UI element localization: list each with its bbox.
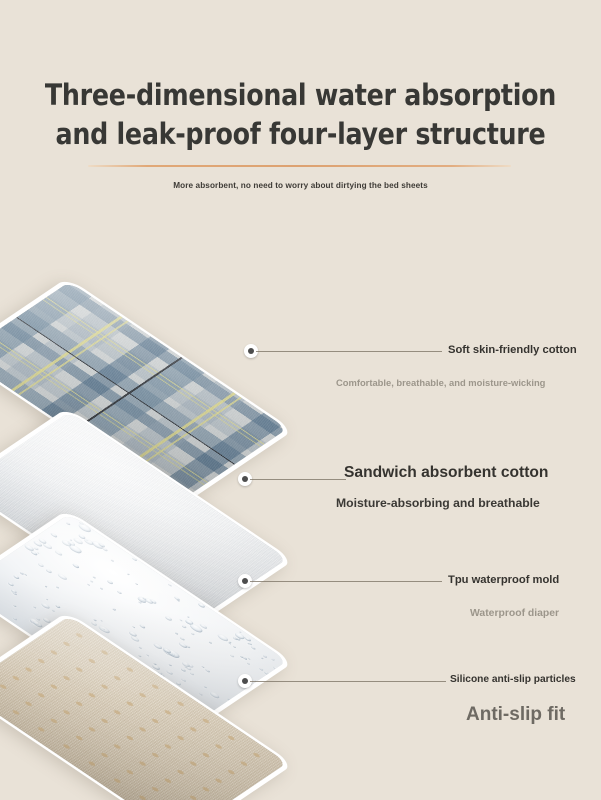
leader-line <box>250 681 446 682</box>
leader-line <box>250 581 442 582</box>
layer-label-plaid-cotton: Soft skin-friendly cotton <box>448 344 577 356</box>
layer-label-anti-slip: Silicone anti-slip particles <box>450 674 576 685</box>
layer-sublabel-plaid-cotton: Comfortable, breathable, and moisture-wi… <box>336 377 545 388</box>
leader-line <box>256 351 442 352</box>
infographic-page: Three-dimensional water absorption and l… <box>0 0 601 800</box>
layer-label-sandwich-cotton: Sandwich absorbent cotton <box>344 464 548 482</box>
layer-sublabel-tpu-waterproof: Waterproof diaper <box>470 608 559 619</box>
layer-label-tpu-waterproof: Tpu waterproof mold <box>448 574 559 586</box>
title-divider <box>88 165 511 167</box>
layer-sublabel-anti-slip: Anti-slip fit <box>466 704 565 726</box>
leader-line <box>250 479 346 480</box>
page-title: Three-dimensional water absorption and l… <box>14 76 588 154</box>
page-subtitle: More absorbent, no need to worry about d… <box>0 181 601 190</box>
layer-stack: Soft skin-friendly cotton Comfortable, b… <box>0 240 601 800</box>
layer-sublabel-sandwich-cotton: Moisture-absorbing and breathable <box>336 496 540 510</box>
